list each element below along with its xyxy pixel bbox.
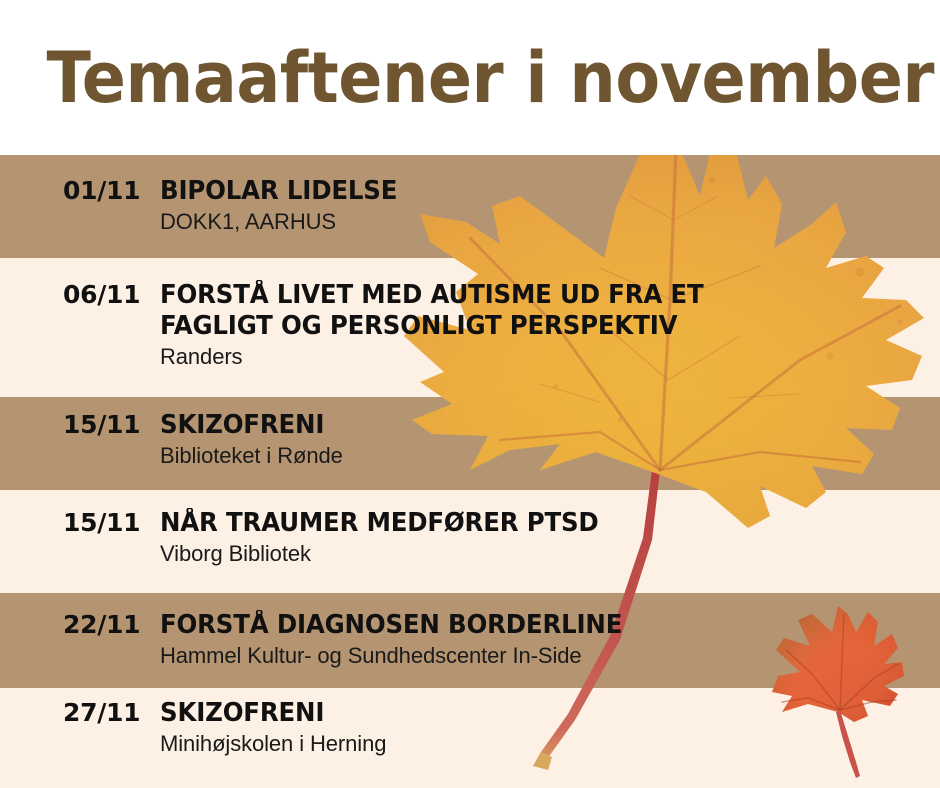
row-body: NÅR TRAUMER MEDFØRER PTSD Viborg Bibliot… <box>160 508 940 568</box>
row-title: SKIZOFRENI <box>160 698 909 729</box>
row-title-line1: SKIZOFRENI <box>160 410 324 440</box>
row-body: SKIZOFRENI Biblioteket i Rønde <box>160 410 940 470</box>
row-title: FORSTÅ DIAGNOSEN BORDERLINE <box>160 610 909 641</box>
schedule-row-2: 06/11 FORSTÅ LIVET MED AUTISME UD FRA ET… <box>0 280 940 371</box>
row-venue: Viborg Bibliotek <box>160 541 940 567</box>
row-body: FORSTÅ LIVET MED AUTISME UD FRA ET FAGLI… <box>160 280 940 371</box>
row-title-line2: FAGLIGT OG PERSONLIGT PERSPEKTIV <box>160 311 909 342</box>
row-title: FORSTÅ LIVET MED AUTISME UD FRA ET FAGLI… <box>160 280 909 342</box>
row-title-line1: FORSTÅ DIAGNOSEN BORDERLINE <box>160 610 622 640</box>
row-body: SKIZOFRENI Minihøjskolen i Herning <box>160 698 940 758</box>
schedule-list: 01/11 BIPOLAR LIDELSE DOKK1, AARHUS 06/1… <box>0 0 940 788</box>
row-venue: Biblioteket i Rønde <box>160 443 940 469</box>
schedule-row-4: 15/11 NÅR TRAUMER MEDFØRER PTSD Viborg B… <box>0 508 940 568</box>
row-date: 27/11 <box>0 698 160 727</box>
poster-canvas: Temaaftener i november 01/11 BIPOLAR LID… <box>0 0 940 788</box>
row-body: FORSTÅ DIAGNOSEN BORDERLINE Hammel Kultu… <box>160 610 940 670</box>
row-date: 15/11 <box>0 508 160 537</box>
row-title-line1: SKIZOFRENI <box>160 698 324 728</box>
row-venue: Hammel Kultur- og Sundhedscenter In-Side <box>160 643 940 669</box>
row-venue: DOKK1, AARHUS <box>160 209 940 235</box>
schedule-row-5: 22/11 FORSTÅ DIAGNOSEN BORDERLINE Hammel… <box>0 610 940 670</box>
row-date: 22/11 <box>0 610 160 639</box>
row-venue: Randers <box>160 344 940 370</box>
row-title: SKIZOFRENI <box>160 410 909 441</box>
schedule-row-6: 27/11 SKIZOFRENI Minihøjskolen i Herning <box>0 698 940 758</box>
schedule-row-1: 01/11 BIPOLAR LIDELSE DOKK1, AARHUS <box>0 176 940 236</box>
row-title-line1: BIPOLAR LIDELSE <box>160 176 397 206</box>
row-date: 01/11 <box>0 176 160 205</box>
row-title-line1: FORSTÅ LIVET MED AUTISME UD FRA ET <box>160 280 703 310</box>
row-title: BIPOLAR LIDELSE <box>160 176 909 207</box>
row-date: 06/11 <box>0 280 160 309</box>
row-body: BIPOLAR LIDELSE DOKK1, AARHUS <box>160 176 940 236</box>
schedule-row-3: 15/11 SKIZOFRENI Biblioteket i Rønde <box>0 410 940 470</box>
row-title-line1: NÅR TRAUMER MEDFØRER PTSD <box>160 508 599 538</box>
row-title: NÅR TRAUMER MEDFØRER PTSD <box>160 508 909 539</box>
row-date: 15/11 <box>0 410 160 439</box>
row-venue: Minihøjskolen i Herning <box>160 731 940 757</box>
